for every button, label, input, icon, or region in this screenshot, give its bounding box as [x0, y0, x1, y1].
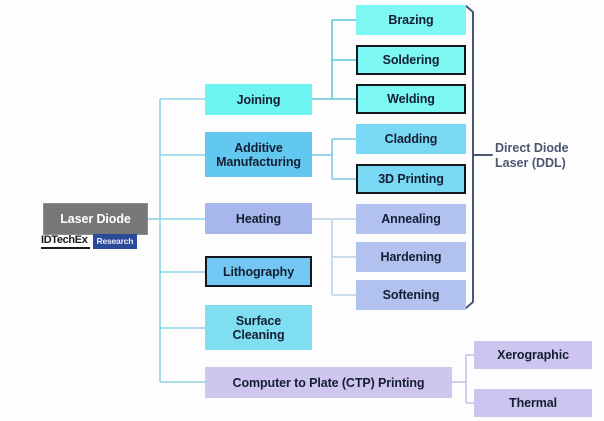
node-brazing[interactable]: Brazing [356, 5, 466, 35]
node-additive-manufacturing[interactable]: Additive Manufacturing [205, 132, 312, 177]
node-surface-cleaning[interactable]: Surface Cleaning [205, 305, 312, 350]
node-annealing[interactable]: Annealing [356, 204, 466, 234]
node-softening[interactable]: Softening [356, 280, 466, 310]
node-laser-diode-label: Laser Diode [56, 212, 134, 226]
node-thermal[interactable]: Thermal [474, 389, 592, 417]
diagram-canvas: Laser Diode Joining Additive Manufacturi… [0, 0, 604, 421]
node-cladding[interactable]: Cladding [356, 124, 466, 154]
node-heating[interactable]: Heating [205, 203, 312, 234]
idtechex-logo: IDTechEx Research [41, 234, 137, 249]
node-surface-cleaning-label: Surface Cleaning [229, 314, 289, 342]
node-laser-diode[interactable]: Laser Diode [43, 203, 148, 235]
node-soldering-label: Soldering [379, 53, 444, 67]
node-3d-printing[interactable]: 3D Printing [356, 164, 466, 194]
node-additive-manufacturing-label: Additive Manufacturing [212, 141, 305, 169]
node-welding[interactable]: Welding [356, 84, 466, 114]
node-thermal-label: Thermal [505, 396, 561, 410]
idtechex-wordmark: IDTechEx [41, 234, 90, 249]
node-heating-label: Heating [232, 212, 285, 226]
node-joining-label: Joining [233, 93, 285, 107]
node-hardening[interactable]: Hardening [356, 242, 466, 272]
node-joining[interactable]: Joining [205, 84, 312, 115]
node-ctp-printing[interactable]: Computer to Plate (CTP) Printing [205, 367, 452, 398]
ddl-bracket [466, 6, 473, 308]
node-cladding-label: Cladding [381, 132, 442, 146]
node-hardening-label: Hardening [377, 250, 446, 264]
node-softening-label: Softening [379, 288, 444, 302]
node-ctp-printing-label: Computer to Plate (CTP) Printing [229, 376, 429, 390]
node-welding-label: Welding [383, 92, 439, 106]
node-lithography-label: Lithography [219, 265, 298, 279]
node-annealing-label: Annealing [377, 212, 445, 226]
idtechex-research-badge: Research [93, 234, 138, 249]
ddl-bracket-label: Direct Diode Laser (DDL) [495, 141, 569, 172]
node-lithography[interactable]: Lithography [205, 256, 312, 287]
node-brazing-label: Brazing [384, 13, 437, 27]
node-3d-printing-label: 3D Printing [374, 172, 448, 186]
node-xerographic-label: Xerographic [493, 348, 573, 362]
node-xerographic[interactable]: Xerographic [474, 341, 592, 369]
node-soldering[interactable]: Soldering [356, 45, 466, 75]
